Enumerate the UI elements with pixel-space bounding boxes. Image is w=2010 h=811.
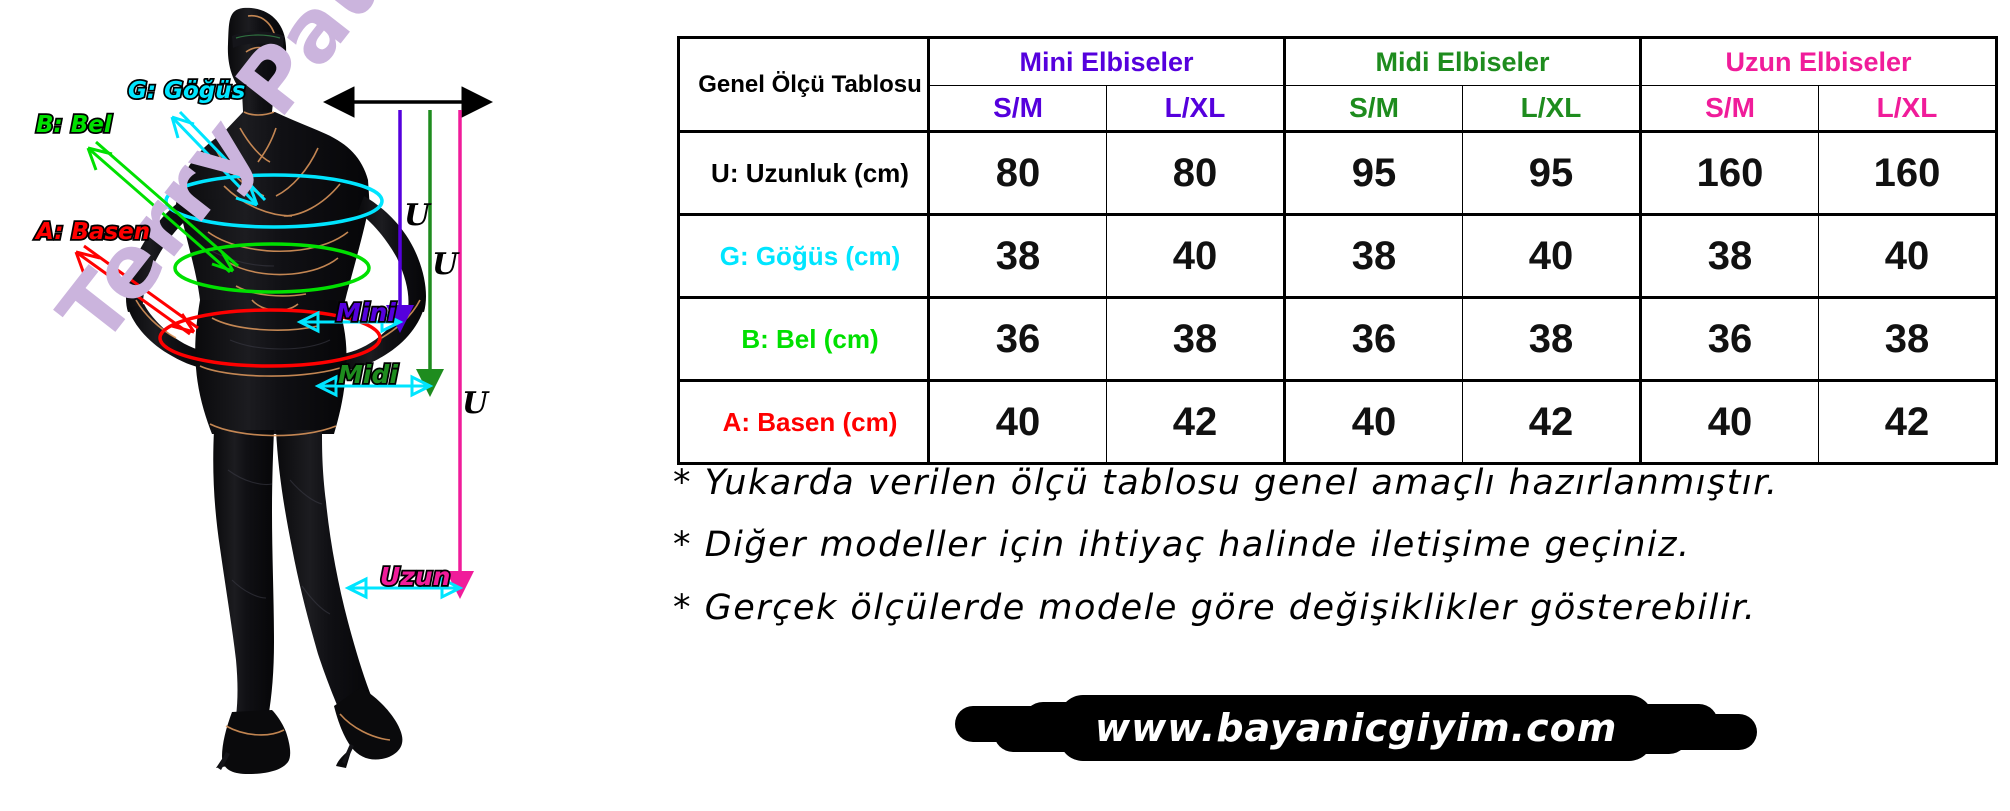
table-row: G: Göğüs (cm) 38 40 38 40 38 40 <box>679 215 1997 298</box>
column-header-uzun-sm: S/M <box>1641 86 1819 132</box>
table-row: B: Bel (cm) 36 38 36 38 36 38 <box>679 298 1997 381</box>
cell-gogus-midi-sm: 38 <box>1285 215 1463 298</box>
column-header-uzun-lxl: L/XL <box>1819 86 1997 132</box>
note-line-2: * Diğer modeller için ihtiyaç halinde il… <box>673 514 2003 576</box>
label-basen: A: Basen <box>36 219 150 245</box>
label-gogus: G: Göğüs <box>128 78 245 104</box>
length-mark-mini: U <box>404 198 430 233</box>
cell-gogus-mini-sm: 38 <box>929 215 1107 298</box>
table-row: U: Uzunluk (cm) 80 80 95 95 160 160 <box>679 132 1997 215</box>
table-corner-label: Genel Ölçü Tablosu <box>679 38 929 132</box>
figure-panel: Terry Pau G: Göğüs B: Bel A: Basen Mini … <box>0 0 665 811</box>
cell-uzunluk-uzun-lxl: 160 <box>1819 132 1997 215</box>
column-group-uzun: Uzun Elbiseler <box>1641 38 1997 86</box>
notes-block: * Yukarda verilen ölçü tablosu genel ama… <box>673 452 2003 639</box>
label-bel: B: Bel <box>36 112 112 138</box>
column-header-midi-lxl: L/XL <box>1463 86 1641 132</box>
column-header-mini-sm: S/M <box>929 86 1107 132</box>
cell-gogus-midi-lxl: 40 <box>1463 215 1641 298</box>
cell-uzunluk-midi-sm: 95 <box>1285 132 1463 215</box>
cell-bel-mini-lxl: 38 <box>1107 298 1285 381</box>
cell-gogus-mini-lxl: 40 <box>1107 215 1285 298</box>
cell-uzunluk-mini-lxl: 80 <box>1107 132 1285 215</box>
row-label-bel: B: Bel (cm) <box>679 298 929 381</box>
row-label-uzunluk: U: Uzunluk (cm) <box>679 132 929 215</box>
label-uzun: Uzun <box>380 562 450 591</box>
cell-gogus-uzun-lxl: 40 <box>1819 215 1997 298</box>
size-chart-table: Genel Ölçü Tablosu Mini Elbiseler Midi E… <box>677 36 1998 465</box>
cell-bel-mini-sm: 36 <box>929 298 1107 381</box>
content-panel: Genel Ölçü Tablosu Mini Elbiseler Midi E… <box>665 0 2010 811</box>
table-group-header-row: Genel Ölçü Tablosu Mini Elbiseler Midi E… <box>679 38 1997 86</box>
column-group-mini: Mini Elbiseler <box>929 38 1285 86</box>
label-midi: Midi <box>338 360 398 389</box>
cell-gogus-uzun-sm: 38 <box>1641 215 1819 298</box>
note-line-3: * Gerçek ölçülerde modele göre değişikli… <box>673 577 2003 639</box>
label-mini: Mini <box>336 298 396 327</box>
cell-bel-uzun-sm: 36 <box>1641 298 1819 381</box>
website-banner[interactable]: www.bayanicgiyim.com <box>1055 700 1657 756</box>
column-header-midi-sm: S/M <box>1285 86 1463 132</box>
cell-bel-midi-lxl: 38 <box>1463 298 1641 381</box>
note-line-1: * Yukarda verilen ölçü tablosu genel ama… <box>673 452 2003 514</box>
body-silhouette <box>126 8 426 774</box>
row-label-gogus: G: Göğüs (cm) <box>679 215 929 298</box>
cell-uzunluk-midi-lxl: 95 <box>1463 132 1641 215</box>
cell-uzunluk-mini-sm: 80 <box>929 132 1107 215</box>
website-url: www.bayanicgiyim.com <box>1095 706 1617 750</box>
length-mark-midi: U <box>432 247 458 282</box>
cell-bel-midi-sm: 36 <box>1285 298 1463 381</box>
cell-uzunluk-uzun-sm: 160 <box>1641 132 1819 215</box>
cell-bel-uzun-lxl: 38 <box>1819 298 1997 381</box>
length-mark-uzun: U <box>462 386 488 421</box>
column-group-midi: Midi Elbiseler <box>1285 38 1641 86</box>
column-header-mini-lxl: L/XL <box>1107 86 1285 132</box>
